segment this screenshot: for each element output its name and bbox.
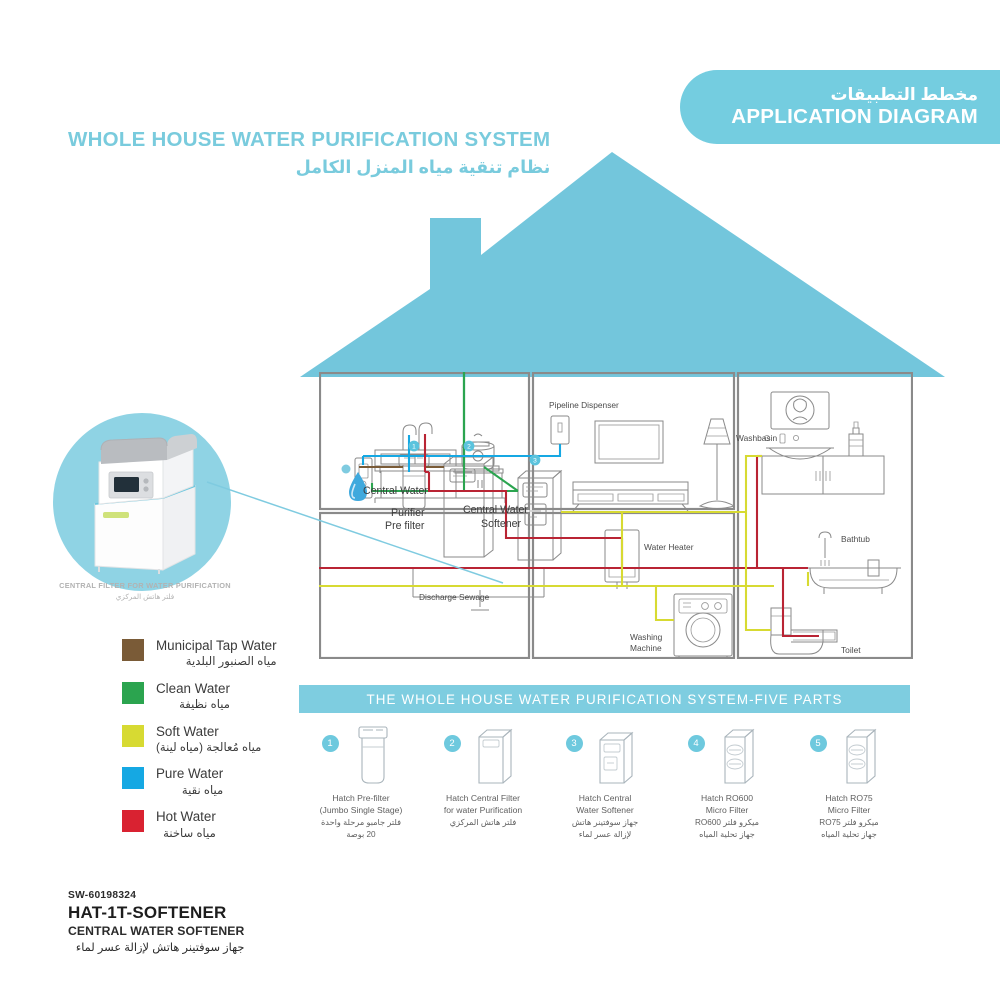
part-item-5[interactable]: 5 Hatch RO75 Micro Filter RO75 ميكرو فلت… xyxy=(788,725,910,840)
marker-3: 3 xyxy=(530,455,541,466)
label-toilet: Toilet xyxy=(841,645,861,655)
marker-2: 2 xyxy=(464,441,475,452)
part-number-badge: 3 xyxy=(566,735,583,752)
badge-title-arabic: مخطط التطبيقات xyxy=(830,85,978,105)
water-softener-icon xyxy=(589,725,645,787)
legend-swatch-hot-water xyxy=(122,810,144,832)
five-parts-banner: THE WHOLE HOUSE WATER PURIFICATION SYSTE… xyxy=(299,685,910,713)
legend-item-pure-water: Pure Water مياه نقية xyxy=(122,766,277,797)
part-label-en-line1: Hatch Central Filter xyxy=(446,793,520,805)
parts-list: 1 Hatch Pre-filter (Jumbo Single Stage) … xyxy=(300,725,910,840)
part-item-4[interactable]: 4 Hatch RO600 Micro Filter RO600 ميكرو ف… xyxy=(666,725,788,840)
part-item-3[interactable]: 3 Hatch Central Water Softener جهاز سوفت… xyxy=(544,725,666,840)
application-diagram-badge: مخطط التطبيقات APPLICATION DIAGRAM xyxy=(680,70,1000,144)
part-label-en-line2: for water Purification xyxy=(444,805,522,817)
part-number-badge: 5 xyxy=(810,735,827,752)
part-number-badge: 1 xyxy=(322,735,339,752)
legend-item-clean-water: Clean Water مياه نظيفة xyxy=(122,681,277,712)
legend-label-ar: مياه نقية xyxy=(156,784,223,798)
pipeline-dispenser-unit xyxy=(551,416,569,444)
central-filter-icon xyxy=(467,725,523,787)
legend-item-hot-water: Hot Water مياه ساخنة xyxy=(122,809,277,840)
part-label-en-line2: (Jumbo Single Stage) xyxy=(320,805,403,817)
legend-item-municipal-tap-water: Municipal Tap Water مياه الصنبور البلدية xyxy=(122,638,277,669)
label-pipeline-dispenser: Pipeline Dispenser xyxy=(549,400,619,410)
legend-label-ar: مياه نظيفة xyxy=(156,698,230,712)
part-label-ar-line2: جهاز تحلية المياه xyxy=(821,829,877,840)
washbasin-bowl xyxy=(769,448,831,459)
part-label-ar-line1: فلتر جامبو مرحلة واحدة xyxy=(321,817,401,828)
bathtub-basin xyxy=(810,568,897,588)
label-washing-machine-line1: Washing xyxy=(630,632,663,642)
living-room-furniture xyxy=(551,416,734,511)
legend-swatch-soft-water xyxy=(122,725,144,747)
pipe-color-legend: Municipal Tap Water مياه الصنبور البلدية… xyxy=(122,638,277,852)
legend-label-en: Pure Water xyxy=(156,766,223,781)
ro75-micro-filter-icon xyxy=(833,725,889,787)
product-sku: SW-60198324 xyxy=(68,890,244,901)
part-item-1[interactable]: 1 Hatch Pre-filter (Jumbo Single Stage) … xyxy=(300,725,422,840)
svg-text:1: 1 xyxy=(412,443,416,450)
legend-label-en: Hot Water xyxy=(156,809,216,824)
legend-swatch-clean-water xyxy=(122,682,144,704)
part-label-en-line2: Water Softener xyxy=(576,805,633,817)
house-roof xyxy=(300,145,945,377)
part-number-badge: 4 xyxy=(688,735,705,752)
mirror xyxy=(771,392,829,429)
part-label-ar-line1: RO600 ميكرو فلتر xyxy=(695,817,759,828)
part-number-badge: 2 xyxy=(444,735,461,752)
part-label-ar-line2: لإزالة عسر لماء xyxy=(579,829,632,840)
pre-filter-icon xyxy=(345,725,401,787)
part-label-en-line1: Hatch Central xyxy=(579,793,632,805)
circle-caption-arabic: فلتر هاتش المركزي xyxy=(50,592,240,601)
product-description-ar: جهاز سوفتينر هاتش لإزالة عسر لماء xyxy=(68,940,244,954)
svg-text:2: 2 xyxy=(467,443,471,450)
product-model: HAT-1T-SOFTENER xyxy=(68,903,244,923)
legend-swatch-pure-water xyxy=(122,767,144,789)
legend-label-en: Soft Water xyxy=(156,724,261,739)
room-living xyxy=(533,373,734,509)
legend-label-ar: مياه مُعالجة (مياه لينة) xyxy=(156,741,261,755)
part-label-en-line2: Micro Filter xyxy=(706,805,749,817)
product-footer: SW-60198324 HAT-1T-SOFTENER CENTRAL WATE… xyxy=(68,890,244,954)
five-parts-banner-text: THE WHOLE HOUSE WATER PURIFICATION SYSTE… xyxy=(366,692,842,707)
room-bathroom xyxy=(738,373,912,658)
svg-text:3: 3 xyxy=(533,457,537,464)
toilet-tank xyxy=(771,608,791,635)
part-label-ar-line2: جهاز تحلية المياه xyxy=(699,829,755,840)
label-water-heater: Water Heater xyxy=(644,542,694,552)
part-item-2[interactable]: 2 Hatch Central Filter for water Purific… xyxy=(422,725,544,840)
legend-swatch-municipal-tap-water xyxy=(122,639,144,661)
part-label-en-line1: Hatch RO600 xyxy=(701,793,753,805)
legend-label-ar: مياه الصنبور البلدية xyxy=(156,655,277,669)
marker-1: 1 xyxy=(409,441,420,452)
callout-leader-line xyxy=(205,470,505,585)
legend-label-en: Clean Water xyxy=(156,681,230,696)
water-softener-product-image xyxy=(85,432,205,574)
legend-item-soft-water: Soft Water مياه مُعالجة (مياه لينة) xyxy=(122,724,277,755)
label-washbasin: Washbasin xyxy=(736,433,777,443)
legend-label-ar: مياه ساخنة xyxy=(156,827,216,841)
label-bathtub: Bathtub xyxy=(841,534,870,544)
part-label-en-line2: Micro Filter xyxy=(828,805,871,817)
part-label-en-line1: Hatch RO75 xyxy=(825,793,872,805)
badge-title-english: APPLICATION DIAGRAM xyxy=(731,105,978,129)
part-label-ar-line1: فلتر هاتش المركزي xyxy=(450,817,517,828)
part-label-ar-line1: جهاز سوفتينر هاتش xyxy=(572,817,638,828)
part-label-ar-line1: RO75 ميكرو فلتر xyxy=(819,817,878,828)
ro600-micro-filter-icon xyxy=(711,725,767,787)
product-description-en: CENTRAL WATER SOFTENER xyxy=(68,924,244,938)
label-washing-machine-line2: Machine xyxy=(630,643,662,653)
part-label-en-line1: Hatch Pre-filter xyxy=(332,793,389,805)
part-label-ar-line2: 20 بوصة xyxy=(346,829,375,840)
label-discharge-sewage: Discharge Sewage xyxy=(419,592,490,602)
legend-label-en: Municipal Tap Water xyxy=(156,638,277,653)
